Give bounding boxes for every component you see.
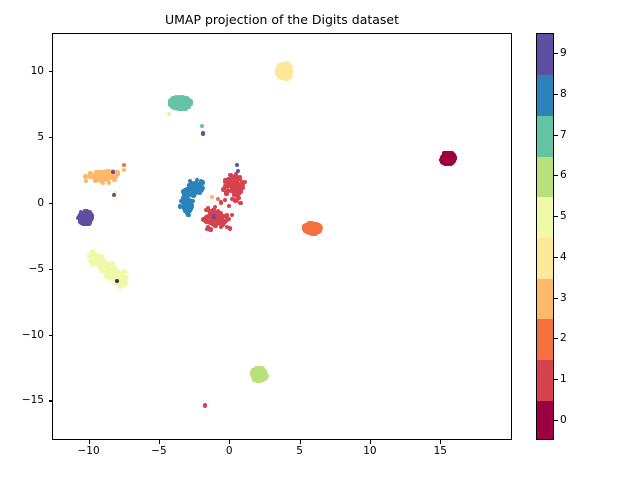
data-point — [187, 203, 191, 207]
data-point — [208, 227, 212, 231]
colorbar-segment — [537, 319, 553, 360]
y-tick — [49, 137, 53, 138]
colorbar-segment — [537, 278, 553, 319]
colorbar-tick — [554, 175, 558, 176]
data-point — [176, 105, 180, 109]
colorbar-segment — [537, 34, 553, 75]
colorbar-segment — [537, 360, 553, 401]
colorbar-tick-label: 8 — [560, 88, 567, 100]
data-point — [231, 182, 235, 186]
data-point — [241, 186, 245, 190]
x-tick-label: 0 — [226, 445, 233, 457]
x-tick — [89, 440, 90, 444]
data-point — [121, 280, 125, 284]
data-point — [219, 214, 223, 218]
colorbar-tick-label: 4 — [560, 251, 567, 263]
data-point — [221, 187, 225, 191]
data-point — [105, 266, 109, 270]
colorbar-tick-label: 0 — [560, 414, 567, 426]
colorbar-segment — [537, 156, 553, 197]
colorbar-tick — [554, 53, 558, 54]
colorbar-segment — [537, 115, 553, 156]
colorbar-tick-label: 9 — [560, 47, 567, 59]
data-point — [238, 201, 242, 205]
data-point — [186, 187, 190, 191]
data-point — [200, 124, 204, 128]
data-point — [110, 269, 114, 273]
colorbar[interactable] — [536, 33, 554, 440]
data-point — [177, 99, 181, 103]
colorbar-tick — [554, 135, 558, 136]
data-point — [201, 217, 205, 221]
colorbar-tick — [554, 420, 558, 421]
matplotlib-figure: UMAP projection of the Digits dataset −1… — [0, 0, 640, 480]
scatter-plot-axes[interactable] — [52, 33, 512, 440]
data-point — [191, 194, 195, 198]
data-point — [182, 98, 186, 102]
colorbar-tick-label: 6 — [560, 169, 567, 181]
colorbar-tick — [554, 338, 558, 339]
colorbar-segment — [537, 238, 553, 279]
data-point — [91, 254, 95, 258]
data-point — [203, 403, 207, 407]
x-tick — [229, 440, 230, 444]
data-point — [84, 179, 88, 183]
data-point — [230, 213, 234, 217]
y-tick-label: 10 — [31, 65, 44, 77]
data-point — [85, 214, 89, 218]
x-tick-label: 10 — [363, 445, 376, 457]
data-point — [284, 77, 288, 81]
data-point — [235, 163, 239, 167]
data-point — [275, 71, 279, 75]
colorbar-tick-label: 3 — [560, 292, 567, 304]
data-point — [307, 222, 311, 226]
data-point — [168, 101, 172, 105]
data-point — [122, 275, 126, 279]
colorbar-segment — [537, 197, 553, 238]
x-tick-label: 15 — [434, 445, 447, 457]
colorbar-segment — [537, 400, 553, 440]
data-point — [80, 216, 84, 220]
y-tick — [49, 203, 53, 204]
colorbar-segment — [537, 75, 553, 116]
page-title: UMAP projection of the Digits dataset — [52, 12, 512, 27]
data-point — [122, 168, 126, 172]
data-point — [221, 218, 225, 222]
data-point — [243, 180, 247, 184]
colorbar-tick-label: 1 — [560, 373, 567, 385]
data-point — [195, 189, 199, 193]
data-point — [97, 261, 101, 265]
data-point — [201, 131, 205, 135]
y-tick-label: −5 — [29, 263, 44, 275]
colorbar-tick-label: 2 — [560, 332, 567, 344]
data-point — [182, 192, 186, 196]
data-point — [223, 198, 227, 202]
colorbar-tick — [554, 257, 558, 258]
data-point — [198, 183, 202, 187]
data-point — [210, 195, 214, 199]
colorbar-tick — [554, 94, 558, 95]
data-point — [232, 187, 236, 191]
colorbar-tick-label: 7 — [560, 129, 567, 141]
x-tick — [370, 440, 371, 444]
data-point — [212, 214, 216, 218]
y-tick-label: 0 — [37, 197, 44, 209]
y-tick-label: −10 — [22, 329, 44, 341]
y-tick — [49, 400, 53, 401]
y-tick — [49, 335, 53, 336]
data-point — [236, 169, 240, 173]
data-point — [256, 376, 260, 380]
x-tick-label: −5 — [151, 445, 166, 457]
data-point — [182, 106, 186, 110]
y-tick-label: −15 — [22, 394, 44, 406]
data-point — [288, 73, 292, 77]
data-point — [319, 226, 323, 230]
colorbar-tick — [554, 216, 558, 217]
y-tick — [49, 269, 53, 270]
data-point — [112, 193, 116, 197]
data-point — [167, 112, 171, 116]
y-tick-label: 5 — [37, 131, 44, 143]
data-point — [88, 220, 92, 224]
colorbar-tick-label: 5 — [560, 210, 567, 222]
x-tick — [440, 440, 441, 444]
x-tick-label: 5 — [296, 445, 303, 457]
x-tick-label: −10 — [77, 445, 99, 457]
y-tick — [49, 71, 53, 72]
colorbar-tick — [554, 298, 558, 299]
data-point — [227, 204, 231, 208]
data-point — [186, 213, 190, 217]
colorbar-tick — [554, 379, 558, 380]
x-tick — [159, 440, 160, 444]
data-point — [314, 229, 318, 233]
data-point — [234, 178, 238, 182]
data-point — [122, 163, 126, 167]
data-points-layer — [53, 34, 511, 439]
data-point — [230, 197, 234, 201]
data-point — [107, 181, 111, 185]
data-point — [281, 68, 285, 72]
x-tick — [300, 440, 301, 444]
